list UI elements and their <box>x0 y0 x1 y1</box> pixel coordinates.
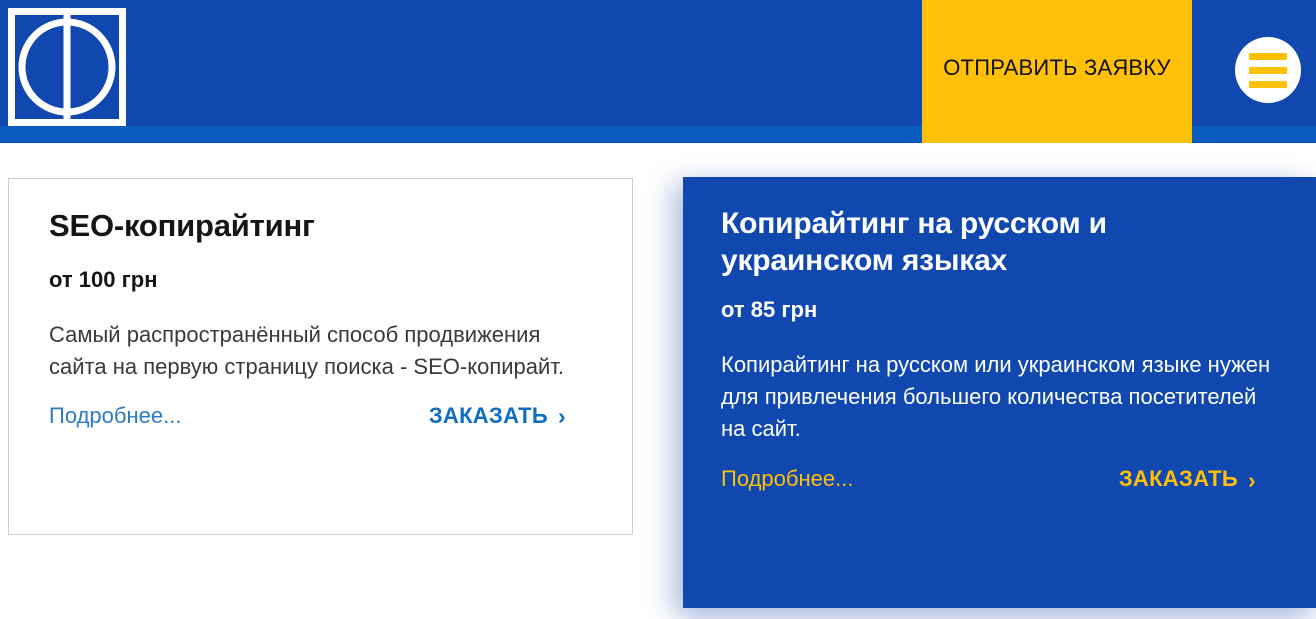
card-price: от 85 грн <box>721 297 1278 323</box>
service-card-seo-copywriting: SEO-копирайтинг от 100 грн Самый распрос… <box>8 178 633 535</box>
logo-vertical-bar-icon <box>64 14 71 120</box>
card-title: Копирайтинг на русском и украинском язык… <box>721 205 1278 279</box>
card-description: Копирайтинг на русском или украинском яз… <box>721 349 1278 444</box>
logo-glyph-icon <box>15 15 119 119</box>
hamburger-menu-icon[interactable] <box>1235 37 1301 103</box>
card-description: Самый распространённый способ продвижени… <box>49 319 592 382</box>
card-price: от 100 грн <box>49 267 592 293</box>
order-link[interactable]: ЗАКАЗАТЬ › <box>1119 466 1256 492</box>
card-actions: Подробнее... ЗАКАЗАТЬ › <box>49 403 592 429</box>
hamburger-bar-3 <box>1249 81 1287 88</box>
chevron-right-icon: › <box>1248 469 1256 492</box>
read-more-link[interactable]: Подробнее... <box>721 466 853 492</box>
company-logo[interactable] <box>8 8 126 126</box>
order-link-label: ЗАКАЗАТЬ <box>1119 466 1238 492</box>
chevron-right-icon: › <box>558 405 566 428</box>
card-title: SEO-копирайтинг <box>49 207 592 245</box>
card-actions: Подробнее... ЗАКАЗАТЬ › <box>721 466 1278 492</box>
submit-request-button[interactable]: ОТПРАВИТЬ ЗАЯВКУ <box>922 0 1192 143</box>
hamburger-bar-2 <box>1249 67 1287 74</box>
order-link-label: ЗАКАЗАТЬ <box>429 403 548 429</box>
read-more-link[interactable]: Подробнее... <box>49 403 181 429</box>
service-card-ru-ua-copywriting: Копирайтинг на русском и украинском язык… <box>683 177 1316 608</box>
hamburger-bar-1 <box>1249 53 1287 60</box>
order-link[interactable]: ЗАКАЗАТЬ › <box>429 403 566 429</box>
site-header: ОТПРАВИТЬ ЗАЯВКУ <box>0 0 1316 143</box>
